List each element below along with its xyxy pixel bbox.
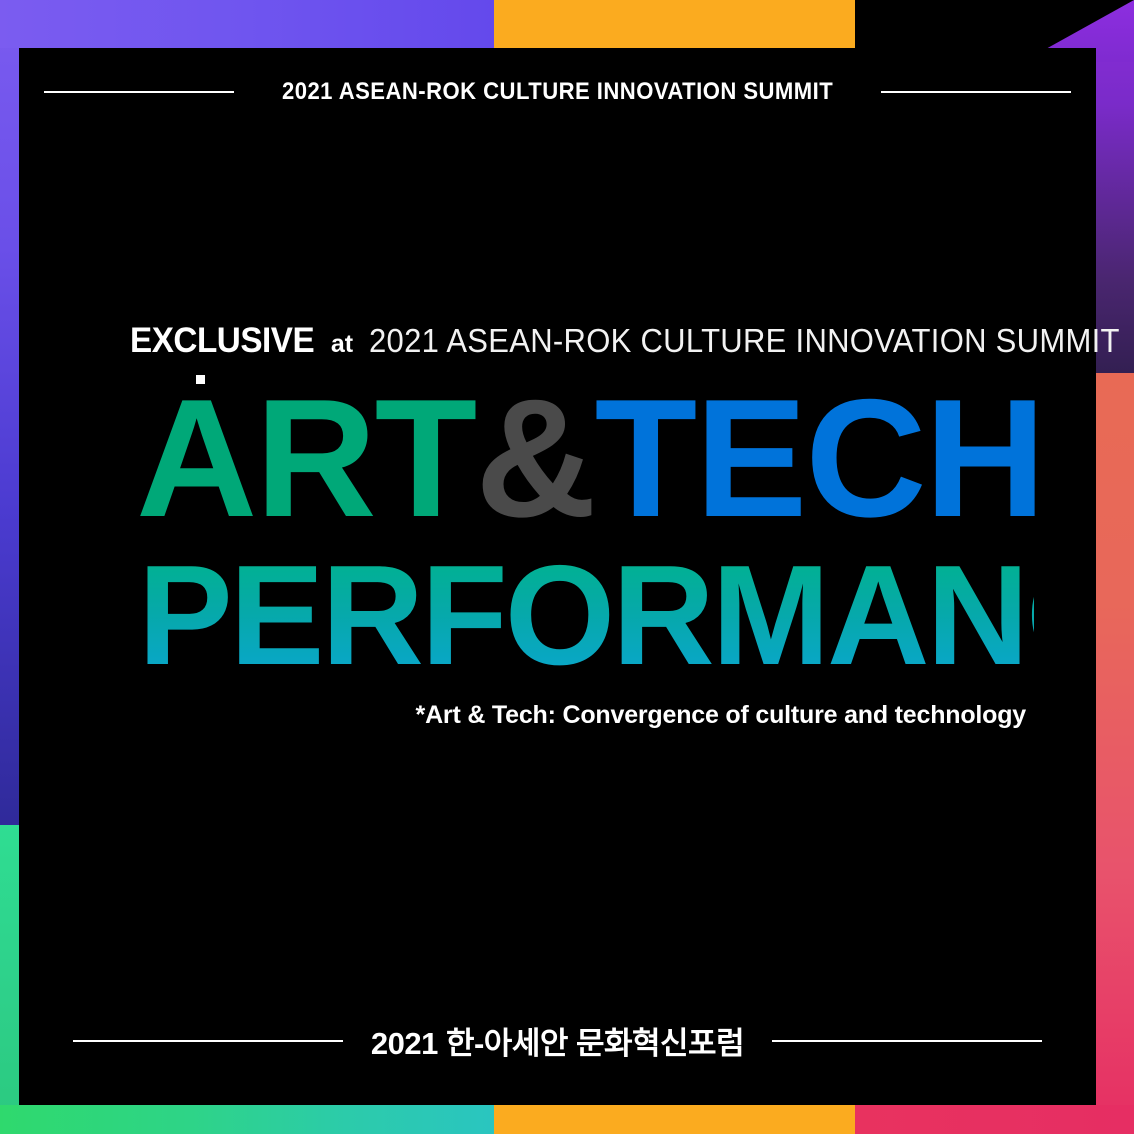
frame-top-orange-strip bbox=[494, 0, 855, 48]
frame-bottom-teal-strip bbox=[0, 1105, 494, 1134]
frame-bottom-pink-strip bbox=[855, 1105, 1134, 1134]
footnote-text: *Art & Tech: Convergence of culture and … bbox=[124, 701, 1034, 730]
kicker-exclusive-label: EXCLUSIVE bbox=[130, 323, 314, 358]
title-line-performance: PERFORMANCE bbox=[124, 549, 1034, 684]
title-word-tech: TECH bbox=[595, 364, 1044, 552]
frame-top-purple-strip bbox=[0, 0, 494, 48]
frame-left-lower-green-strip bbox=[0, 825, 19, 1134]
kicker-at-label: at bbox=[331, 332, 353, 357]
frame-left-upper-purple-strip bbox=[0, 0, 19, 825]
frame-right-lower-coral-strip bbox=[1096, 373, 1134, 1134]
title-line-art-and-tech: ART&TECH bbox=[124, 379, 1034, 539]
main-content: EXCLUSIVE at 2021 ASEAN-ROK CULTURE INNO… bbox=[124, 323, 1034, 730]
header-title: 2021 ASEAN-ROK CULTURE INNOVATION SUMMIT bbox=[282, 78, 833, 106]
footer-rule-left bbox=[73, 1040, 343, 1042]
header-rule-left bbox=[44, 91, 234, 93]
footer-rule-right bbox=[772, 1040, 1042, 1042]
title-word-art: ART bbox=[136, 364, 475, 552]
footer-title: 2021 한-아세안 문화혁신포럼 bbox=[371, 1018, 744, 1063]
content-stage: 2021 ASEAN-ROK CULTURE INNOVATION SUMMIT… bbox=[19, 48, 1096, 1105]
frame-bottom-orange-strip bbox=[494, 1105, 855, 1134]
footer-band: 2021 한-아세안 문화혁신포럼 bbox=[19, 1018, 1096, 1063]
header-rule-right bbox=[881, 91, 1071, 93]
bullet-dot-icon bbox=[196, 375, 205, 384]
title-word-ampersand: & bbox=[475, 364, 594, 552]
poster-canvas: 2021 ASEAN-ROK CULTURE INNOVATION SUMMIT… bbox=[0, 0, 1134, 1134]
header-band: 2021 ASEAN-ROK CULTURE INNOVATION SUMMIT bbox=[19, 78, 1096, 106]
kicker-summit-label: 2021 ASEAN-ROK CULTURE INNOVATION SUMMIT bbox=[369, 324, 1120, 357]
